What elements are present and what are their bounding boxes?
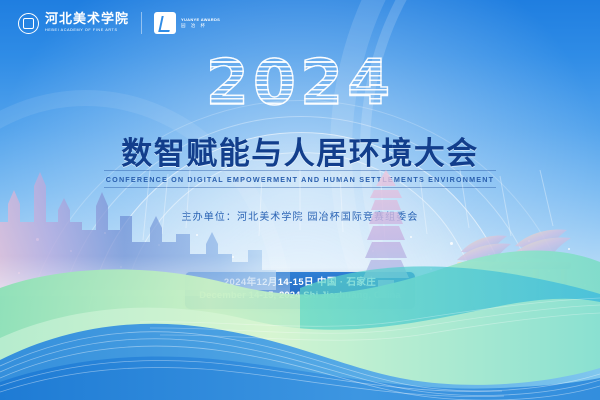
- yuanye-award-mark-icon: [154, 12, 176, 34]
- year-heading: 2024: [0, 52, 600, 114]
- partner-logo[interactable]: YUANYE AWARDS 园 冶 杯: [154, 12, 220, 34]
- conference-poster: 河北美术学院 HEBEI ACADEMY OF FINE ARTS YUANYE…: [0, 0, 600, 400]
- logo-divider: [141, 12, 142, 34]
- partner-name-cn: 园 冶 杯: [181, 23, 220, 28]
- partner-name-en: YUANYE AWARDS: [181, 18, 220, 23]
- light-rays: [143, 170, 553, 240]
- university-logo[interactable]: 河北美术学院 HEBEI ACADEMY OF FINE ARTS: [18, 13, 129, 34]
- university-name-cn: 河北美术学院: [45, 13, 129, 26]
- header-logo-bar: 河北美术学院 HEBEI ACADEMY OF FINE ARTS YUANYE…: [0, 0, 600, 46]
- university-seal-icon: [18, 13, 39, 34]
- landscape-illustration: [0, 170, 600, 400]
- page-title: 数智赋能与人居环境大会: [0, 128, 600, 173]
- university-name-en: HEBEI ACADEMY OF FINE ARTS: [45, 29, 133, 33]
